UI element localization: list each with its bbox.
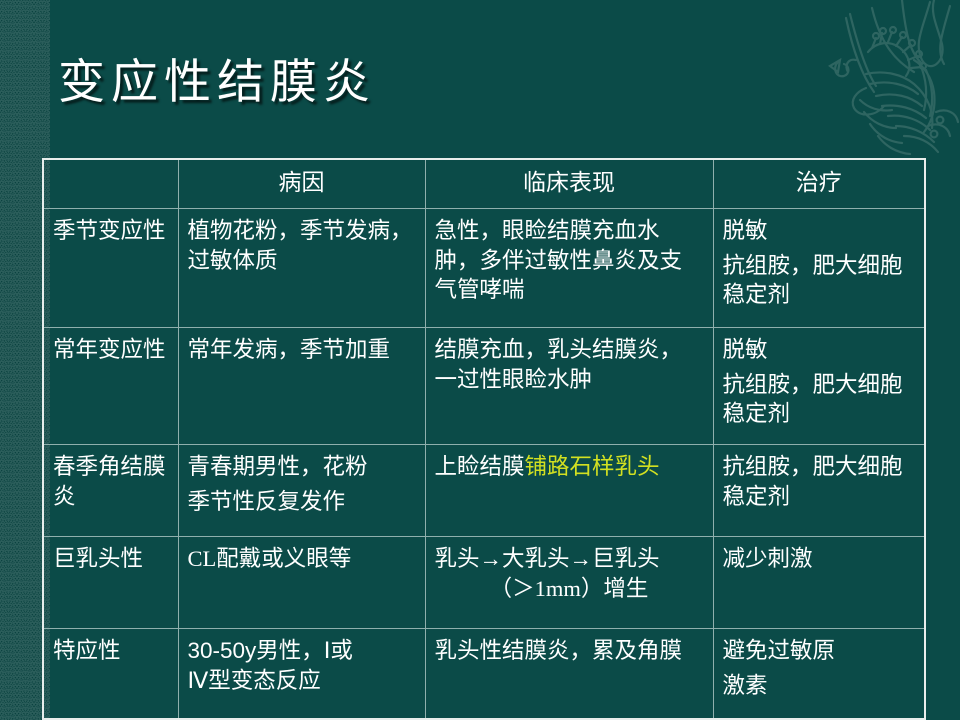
phoenix-bird-ornament bbox=[810, 0, 960, 155]
allergic-conjunctivitis-table: 病因 临床表现 治疗 季节变应性 植物花粉，季节发病，过敏体质 急性，眼睑结膜充… bbox=[42, 158, 926, 720]
treatment-line-1: 脱敏 bbox=[723, 335, 916, 365]
row-category: 巨乳头性 bbox=[43, 537, 178, 629]
row-category: 常年变应性 bbox=[43, 328, 178, 445]
cause-line-2: 季节性反复发作 bbox=[188, 487, 416, 517]
treatment-line-1: 避免过敏原 bbox=[723, 636, 916, 666]
row-manifestation: 结膜充血，乳头结膜炎，一过性眼睑水肿 bbox=[425, 328, 713, 445]
row-treatment: 脱敏 抗组胺，肥大细胞稳定剂 bbox=[713, 209, 925, 328]
manifestation-line-2: （＞1mm）增生 bbox=[435, 574, 704, 604]
table-row: 巨乳头性 CL配戴或义眼等 乳头→大乳头→巨乳头 （＞1mm）增生 减少刺激 bbox=[43, 537, 925, 629]
column-header-manifestation: 临床表现 bbox=[425, 159, 713, 209]
manifestation-prefix: 上睑结膜 bbox=[435, 454, 525, 479]
table-header-row: 病因 临床表现 治疗 bbox=[43, 159, 925, 209]
row-cause: 植物花粉，季节发病，过敏体质 bbox=[178, 209, 425, 328]
row-manifestation: 急性，眼睑结膜充血水肿，多伴过敏性鼻炎及支气管哮喘 bbox=[425, 209, 713, 328]
column-header-cause: 病因 bbox=[178, 159, 425, 209]
treatment-line-2: 抗组胺，肥大细胞稳定剂 bbox=[723, 370, 916, 429]
table-row: 春季角结膜炎 青春期男性，花粉 季节性反复发作 上睑结膜铺路石样乳头 抗组胺，肥… bbox=[43, 445, 925, 537]
row-cause: 30-50y男性，Ⅰ或 Ⅳ型变态反应 bbox=[178, 629, 425, 720]
manifestation-line-1: 乳头→大乳头→巨乳头 bbox=[435, 544, 704, 574]
treatment-line-2: 激素 bbox=[723, 671, 916, 701]
cause-line-1: 30-50y男性，Ⅰ或 bbox=[188, 636, 416, 666]
treatment-line-2: 抗组胺，肥大细胞稳定剂 bbox=[723, 251, 916, 310]
table-row: 特应性 30-50y男性，Ⅰ或 Ⅳ型变态反应 乳头性结膜炎，累及角膜 避免过敏原… bbox=[43, 629, 925, 720]
column-header-treatment: 治疗 bbox=[713, 159, 925, 209]
row-category: 季节变应性 bbox=[43, 209, 178, 328]
page-title: 变应性结膜炎 bbox=[58, 58, 376, 110]
manifestation-highlight: 铺路石样乳头 bbox=[525, 454, 660, 479]
column-header-category bbox=[43, 159, 178, 209]
slide-root: 变应性结膜炎 病因 临床表现 治疗 季节变应性 植物花粉，季节发病，过敏体质 急… bbox=[0, 0, 960, 720]
row-manifestation: 乳头性结膜炎，累及角膜 bbox=[425, 629, 713, 720]
row-manifestation: 上睑结膜铺路石样乳头 bbox=[425, 445, 713, 537]
row-cause: CL配戴或义眼等 bbox=[178, 537, 425, 629]
row-category: 春季角结膜炎 bbox=[43, 445, 178, 537]
row-cause: 青春期男性，花粉 季节性反复发作 bbox=[178, 445, 425, 537]
row-cause: 常年发病，季节加重 bbox=[178, 328, 425, 445]
row-treatment: 减少刺激 bbox=[713, 537, 925, 629]
row-category: 特应性 bbox=[43, 629, 178, 720]
table-row: 常年变应性 常年发病，季节加重 结膜充血，乳头结膜炎，一过性眼睑水肿 脱敏 抗组… bbox=[43, 328, 925, 445]
treatment-line-1: 脱敏 bbox=[723, 216, 916, 246]
row-treatment: 脱敏 抗组胺，肥大细胞稳定剂 bbox=[713, 328, 925, 445]
row-treatment: 抗组胺，肥大细胞稳定剂 bbox=[713, 445, 925, 537]
cause-line-1: 青春期男性，花粉 bbox=[188, 452, 416, 482]
table-row: 季节变应性 植物花粉，季节发病，过敏体质 急性，眼睑结膜充血水肿，多伴过敏性鼻炎… bbox=[43, 209, 925, 328]
row-manifestation: 乳头→大乳头→巨乳头 （＞1mm）增生 bbox=[425, 537, 713, 629]
cause-line-2: Ⅳ型变态反应 bbox=[188, 666, 416, 696]
row-treatment: 避免过敏原 激素 bbox=[713, 629, 925, 720]
